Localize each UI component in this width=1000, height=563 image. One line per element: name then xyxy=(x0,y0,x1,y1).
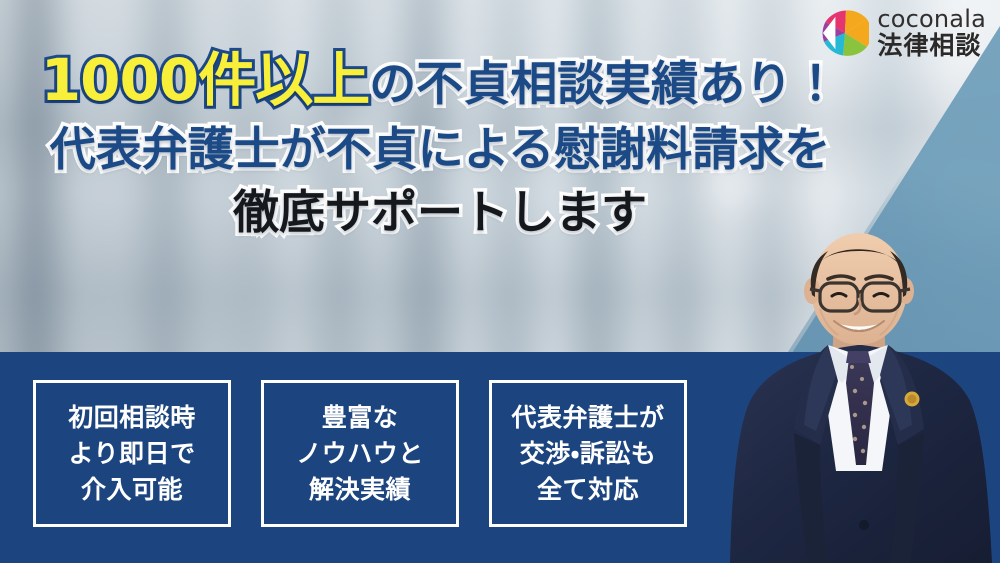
feature-box-3-line-3: 全て対応 xyxy=(537,473,639,506)
feature-box-3[interactable]: 代表弁護士が 交渉・訴訟も 全て対応 xyxy=(489,380,687,527)
headline-line-2: 代表弁護士が不貞による慰謝料請求を xyxy=(50,122,831,176)
feature-box-2-line-2: ノウハウと xyxy=(296,437,424,470)
headline-line-3: 徹底サポートします xyxy=(233,185,647,239)
logo-name-en: coconala xyxy=(877,7,986,31)
feature-box-1-line-1: 初回相談時 xyxy=(68,401,196,434)
feature-box-group: 初回相談時 より即日で 介入可能 豊富な ノウハウと 解決実績 代表弁護士が 交… xyxy=(33,352,687,563)
feature-box-2-line-3: 解決実績 xyxy=(309,473,411,506)
lawyer-portrait-illustration xyxy=(716,233,1000,563)
feature-box-1[interactable]: 初回相談時 より即日で 介入可能 xyxy=(33,380,231,527)
feature-box-2-line-1: 豊富な xyxy=(322,401,399,434)
logo-wordmark: coconala 法律相談 xyxy=(877,7,986,59)
headline-highlight-count: 1000件以上 xyxy=(41,46,369,114)
feature-box-2[interactable]: 豊富な ノウハウと 解決実績 xyxy=(261,380,459,527)
feature-box-1-line-3: 介入可能 xyxy=(81,473,183,506)
promo-banner: coconala 法律相談 1000件以上の不貞相談実績あり！ 代表弁護士が不貞… xyxy=(0,0,1000,563)
headline-line-1-rest: の不貞相談実績あり！ xyxy=(369,57,839,112)
logo-name-ja: 法律相談 xyxy=(877,34,986,59)
headline-group: 1000件以上の不貞相談実績あり！ 代表弁護士が不貞による慰謝料請求を 徹底サポ… xyxy=(0,46,880,239)
feature-box-1-line-2: より即日で xyxy=(68,437,195,470)
feature-box-3-line-2: 交渉・訴訟も xyxy=(520,437,657,470)
headline-line-1: 1000件以上の不貞相談実績あり！ xyxy=(41,46,839,114)
feature-box-3-line-1: 代表弁護士が xyxy=(511,401,664,434)
lawyer-portrait xyxy=(716,233,1000,563)
